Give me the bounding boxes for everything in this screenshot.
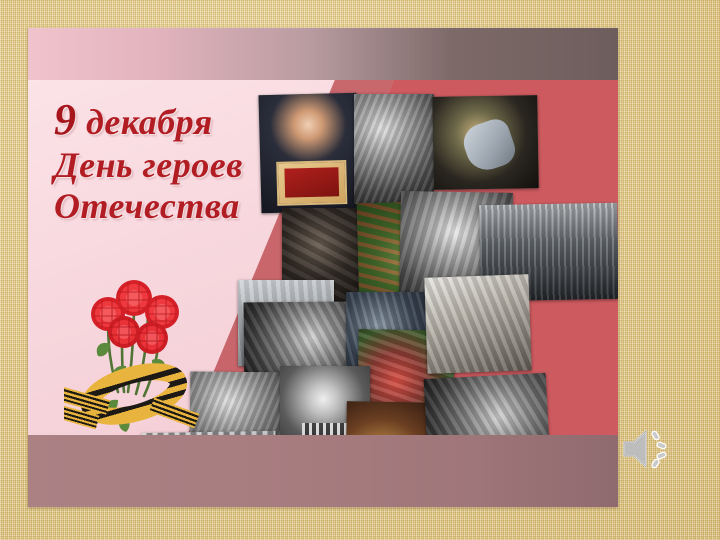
slide-bottom-banner (28, 435, 618, 507)
slide-top-banner (28, 28, 618, 80)
slide-title: 9 декабря День героев Отечества (54, 98, 304, 224)
title-line-2: День героев (54, 147, 304, 184)
speaker-icon[interactable] (618, 424, 678, 474)
title-line-3: Отечества (54, 188, 304, 225)
title-day-number: 9 (54, 95, 77, 144)
presentation-slide[interactable]: 9 декабря День героев Отечества (28, 28, 618, 507)
carnation-bouquet-decoration (64, 274, 214, 439)
photo-rescuer-carrying-child (432, 95, 539, 190)
photo-bw-battle-charge (424, 373, 551, 435)
photo-bw-soldier-with-camera (354, 94, 434, 204)
desktop-backdrop: 9 декабря День героев Отечества (0, 0, 720, 540)
photo-cavalry-battle-painting (345, 401, 433, 435)
photo-memorial-portraits-wall (424, 274, 531, 374)
title-line-1: 9 декабря (54, 98, 304, 143)
title-month: декабря (77, 102, 213, 142)
